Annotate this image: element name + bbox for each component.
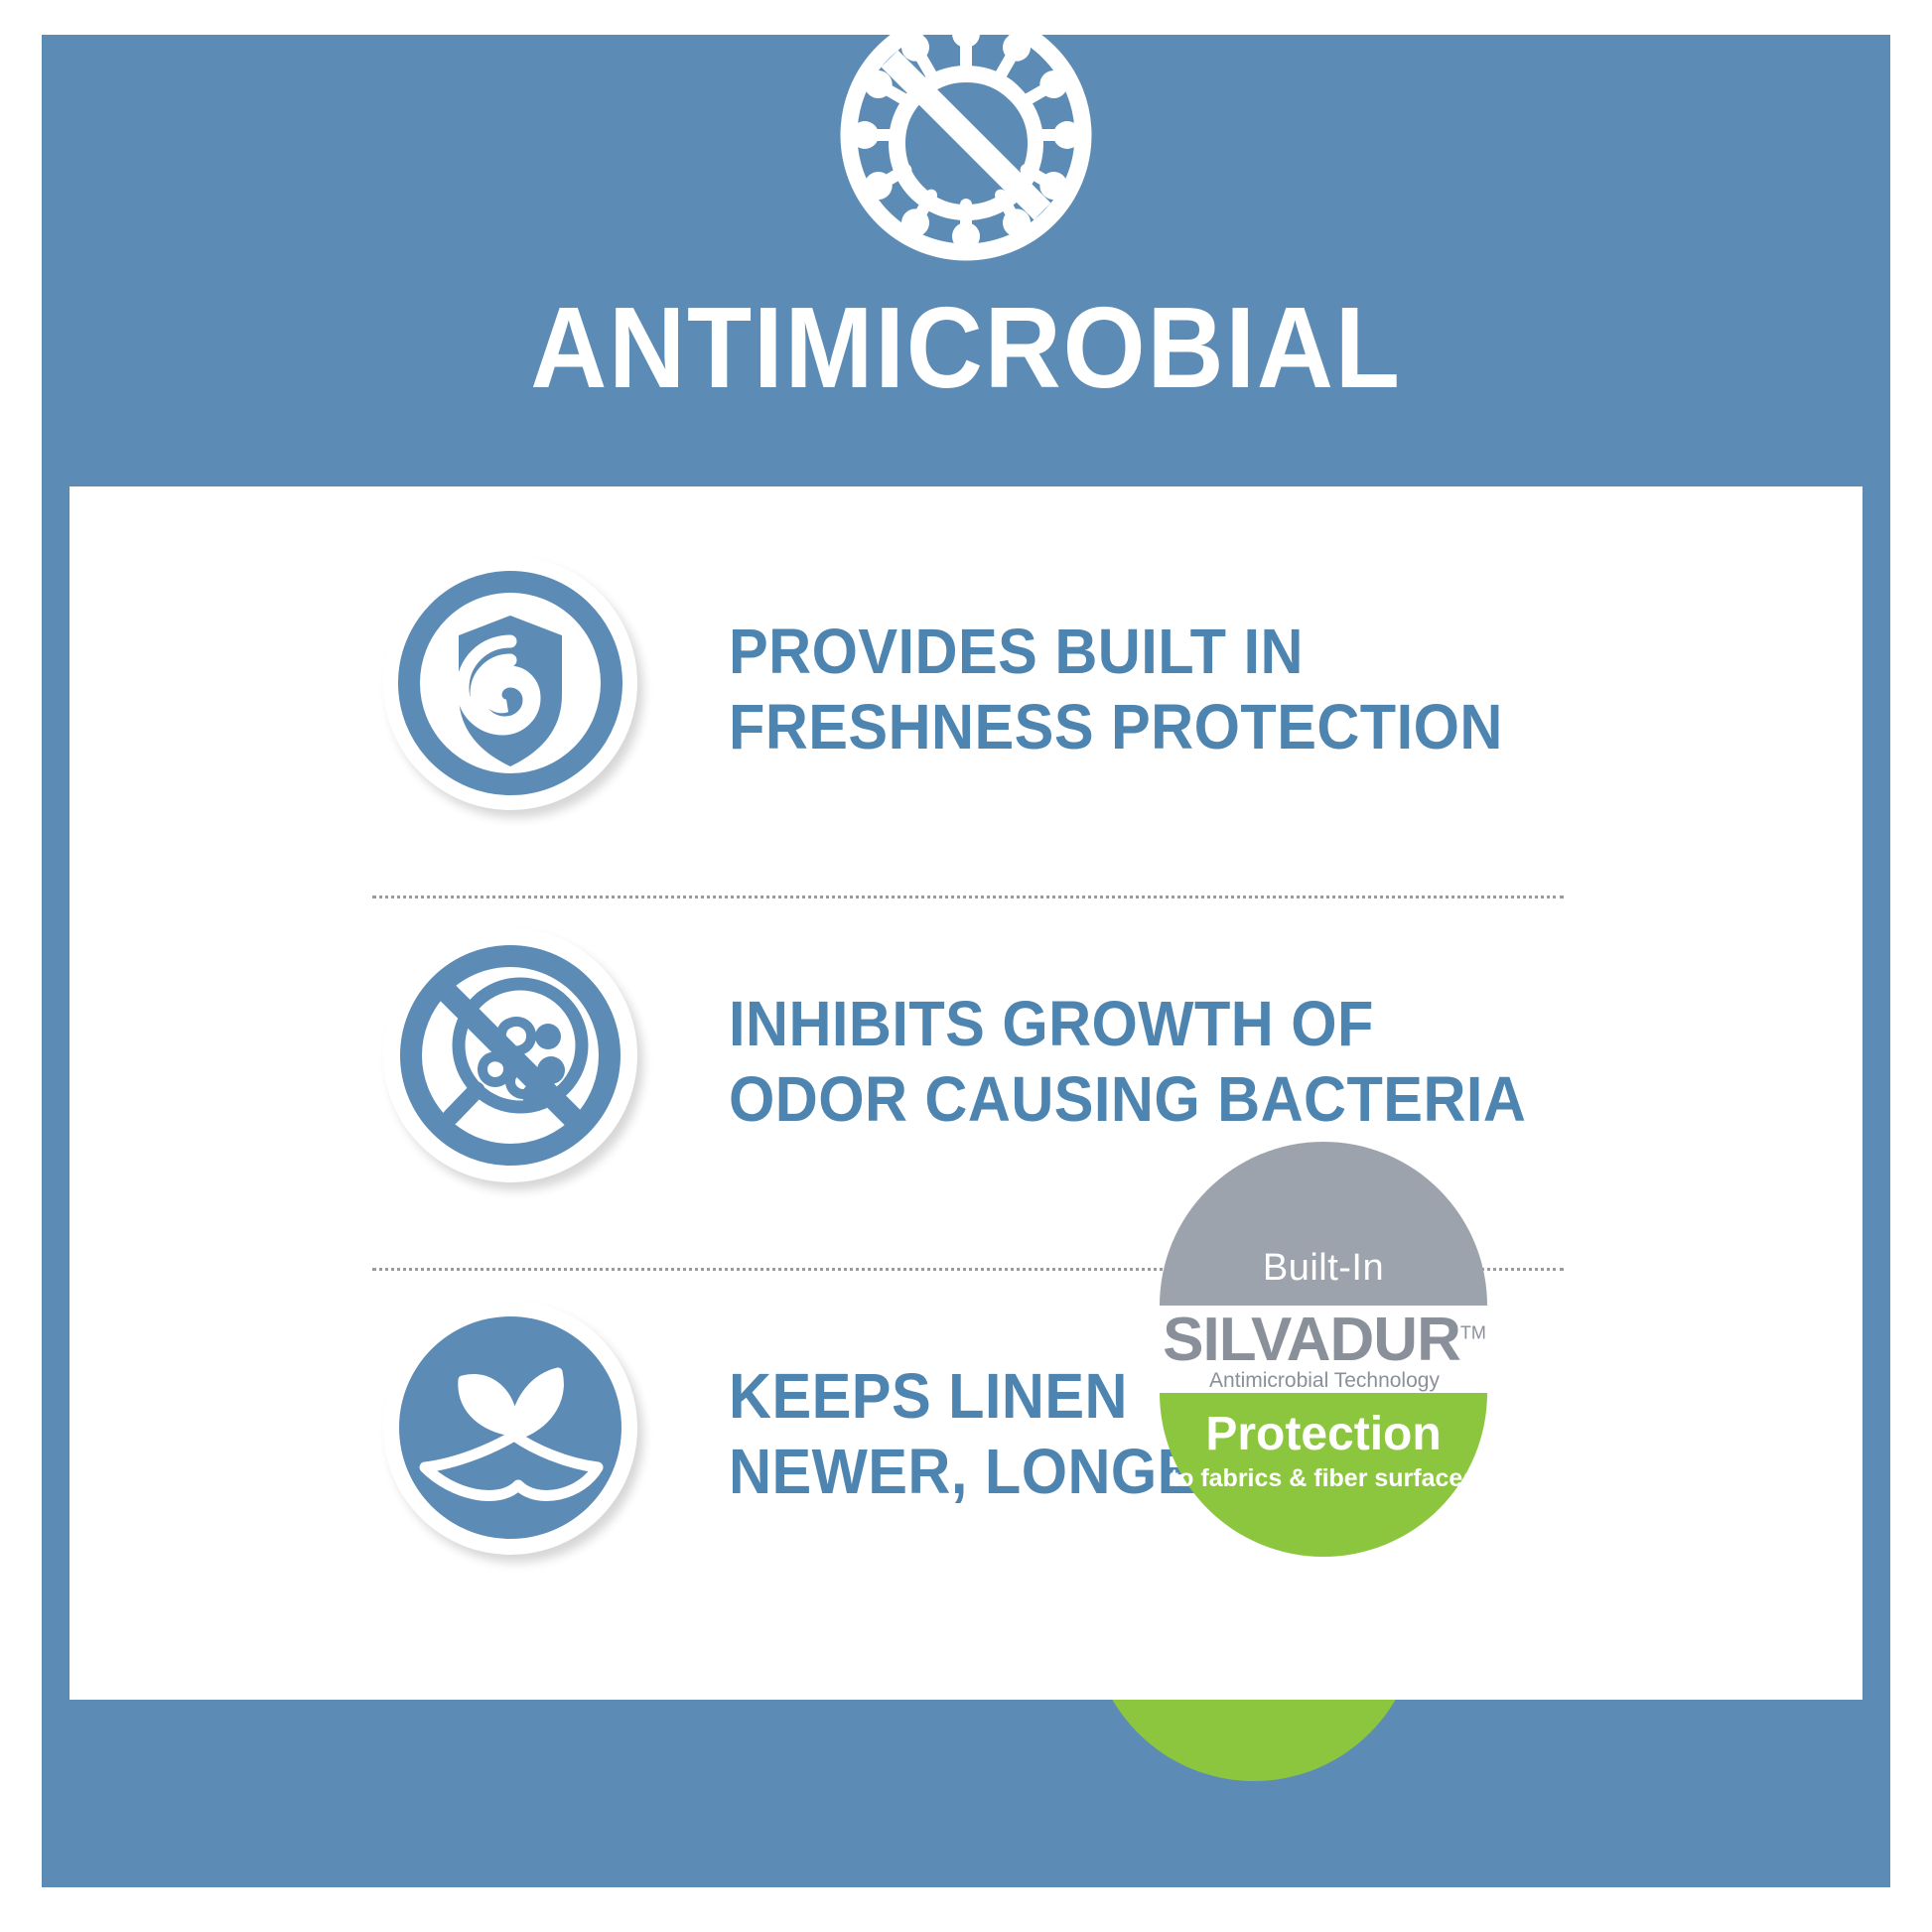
poster-canvas: ANTIMICROBIAL PROVIDES BUILT IN FRESHNES…: [0, 0, 1932, 1932]
magnifier-bacteria-prohibited-icon: [383, 928, 651, 1196]
sprout-leaves-icon: [383, 1301, 651, 1569]
feature-label-line1: INHIBITS GROWTH OF: [729, 987, 1526, 1062]
feature-row: PROVIDES BUILT IN FRESHNESS PROTECTION: [69, 526, 1863, 854]
feature-row: INHIBITS GROWTH OF ODOR CAUSING BACTERIA: [69, 898, 1863, 1226]
shield-swirl-icon: [383, 556, 651, 824]
feature-label: PROVIDES BUILT IN FRESHNESS PROTECTION: [729, 615, 1503, 764]
badge-wordmark-block: SILVADURTM Antimicrobial Technology: [1154, 1306, 1495, 1393]
badge-protection-title: Protection: [1160, 1393, 1487, 1458]
page-title: ANTIMICROBIAL: [115, 290, 1816, 405]
feature-label-line2: ODOR CAUSING BACTERIA: [729, 1062, 1526, 1138]
germ-prohibited-icon: [833, 2, 1099, 268]
silvadur-badge: Built-In SILVADURTM Antimicrobial Techno…: [1160, 1142, 1487, 1479]
badge-protection-subtitle: to fabrics & fiber surfaces: [1160, 1458, 1487, 1491]
silvadur-wordmark-text: SILVADUR: [1163, 1306, 1460, 1374]
trademark-symbol: TM: [1460, 1322, 1486, 1342]
badge-built-in-label: Built-In: [1263, 1247, 1384, 1306]
feature-label-line1: PROVIDES BUILT IN: [729, 615, 1503, 690]
poster-header: ANTIMICROBIAL: [42, 0, 1890, 491]
feature-row: KEEPS LINEN NEWER, LONGER: [69, 1271, 1863, 1598]
badge-top-dome: Built-In: [1160, 1142, 1487, 1306]
feature-label-line2: FRESHNESS PROTECTION: [729, 690, 1503, 765]
feature-label: INHIBITS GROWTH OF ODOR CAUSING BACTERIA: [729, 987, 1526, 1137]
content-card: PROVIDES BUILT IN FRESHNESS PROTECTION: [69, 486, 1863, 1700]
silvadur-wordmark: SILVADURTM: [1154, 1306, 1495, 1371]
